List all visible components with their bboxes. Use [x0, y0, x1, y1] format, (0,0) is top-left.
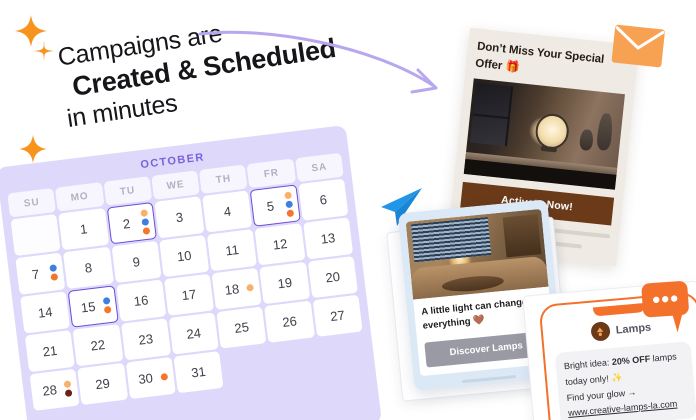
calendar-day-26[interactable]: 26 — [264, 301, 314, 343]
message-offer: 20% OFF — [611, 354, 650, 367]
calendar-day-number: 28 — [42, 382, 58, 399]
calendar-day-6[interactable]: 6 — [298, 179, 348, 221]
calendar-day-number: 3 — [175, 209, 184, 225]
calendar-day-24[interactable]: 24 — [169, 312, 219, 354]
calendar-day-number: 17 — [181, 286, 197, 303]
calendar-event-dots — [247, 283, 255, 291]
calendar-event-dots — [102, 297, 111, 314]
calendar-day-19[interactable]: 19 — [260, 262, 310, 304]
calendar-day-number: 31 — [190, 364, 206, 381]
calendar-event-dot — [140, 209, 148, 217]
calendar-day-number: 11 — [225, 242, 240, 259]
calendar-event-dots — [64, 380, 73, 397]
calendar-day-number: 30 — [138, 370, 154, 387]
calendar-day-number: 5 — [266, 198, 275, 214]
calendar-grid[interactable]: SUMOTUWETHFRSA12345678910111213141516171… — [7, 153, 367, 411]
calendar-empty-cell — [10, 214, 60, 256]
calendar-event-dot — [142, 227, 150, 235]
calendar-day-28[interactable]: 28 — [29, 369, 79, 411]
calendar-day-number: 1 — [79, 221, 88, 237]
calendar-event-dots — [284, 191, 294, 217]
calendar-weekday-tu: TU — [103, 176, 152, 205]
calendar-event-dot — [64, 380, 72, 388]
calendar-event-dot — [65, 389, 73, 397]
calendar-day-4[interactable]: 4 — [202, 190, 252, 232]
calendar-day-12[interactable]: 12 — [255, 223, 305, 265]
calendar-weekday-sa: SA — [295, 153, 344, 182]
illustration-canvas: Campaigns are Created & Scheduled in min… — [0, 0, 696, 420]
email-hero-image — [464, 79, 625, 190]
card-handle-bar — [462, 375, 516, 383]
calendar-day-number: 16 — [133, 292, 149, 309]
calendar-event-dots — [140, 209, 150, 235]
calendar-weekday-mo: MO — [55, 182, 104, 211]
calendar-day-29[interactable]: 29 — [77, 363, 127, 405]
calendar-day-22[interactable]: 22 — [73, 324, 123, 366]
calendar-day-number: 9 — [132, 254, 141, 270]
calendar-day-number: 4 — [223, 204, 232, 220]
calendar-day-number: 19 — [277, 275, 293, 292]
calendar-day-2[interactable]: 2 — [106, 202, 156, 244]
sparkle-icon — [33, 40, 55, 62]
calendar-day-number: 29 — [95, 376, 111, 393]
calendar-day-number: 26 — [281, 313, 297, 330]
calendar-day-number: 2 — [122, 216, 131, 232]
calendar-day-8[interactable]: 8 — [63, 247, 113, 289]
calendar-day-7[interactable]: 7 — [15, 253, 65, 295]
calendar-event-dot — [50, 264, 58, 272]
calendar-event-dot — [247, 283, 255, 291]
calendar-day-13[interactable]: 13 — [303, 217, 353, 259]
calendar-event-dots — [160, 373, 168, 381]
calendar-day-23[interactable]: 23 — [121, 318, 171, 360]
calendar-day-number: 15 — [80, 299, 96, 316]
calendar-day-10[interactable]: 10 — [159, 235, 209, 277]
calendar-day-21[interactable]: 21 — [25, 330, 75, 372]
calendar-day-11[interactable]: 11 — [207, 229, 257, 271]
calendar-day-number: 24 — [186, 325, 202, 342]
calendar-event-dots — [50, 264, 59, 281]
calendar-day-16[interactable]: 16 — [116, 279, 166, 321]
calendar-day-number: 14 — [37, 304, 53, 321]
calendar-day-number: 12 — [272, 236, 288, 253]
calendar-event-dot — [102, 297, 110, 305]
calendar-day-number: 10 — [176, 248, 192, 265]
calendar-day-number: 6 — [319, 192, 328, 208]
chat-bubble-icon — [640, 279, 696, 341]
calendar-weekday-su: SU — [7, 188, 56, 217]
calendar-event-dot — [285, 200, 293, 208]
message-prefix: Bright idea: — [564, 357, 613, 371]
calendar-widget[interactable]: OCTOBER SUMOTUWETHFRSA123456789101112131… — [0, 125, 382, 420]
calendar-day-number: 21 — [42, 343, 58, 360]
calendar-event-dot — [141, 218, 149, 226]
calendar-event-dot — [286, 209, 294, 217]
calendar-day-5[interactable]: 5 — [250, 184, 300, 226]
calendar-event-dot — [284, 191, 292, 199]
calendar-day-number: 22 — [90, 337, 106, 354]
avatar — [590, 321, 611, 342]
calendar-day-18[interactable]: 18 — [212, 268, 262, 310]
calendar-day-number: 7 — [31, 266, 40, 282]
calendar-day-1[interactable]: 1 — [58, 208, 108, 250]
calendar-day-31[interactable]: 31 — [173, 351, 223, 393]
sparkle-icon — [18, 134, 48, 164]
message-link[interactable]: www.creative-lamps-la.com — [568, 399, 678, 419]
calendar-day-number: 23 — [138, 331, 154, 348]
calendar-weekday-we: WE — [151, 170, 200, 199]
calendar-day-25[interactable]: 25 — [216, 306, 266, 348]
calendar-day-30[interactable]: 30 — [125, 357, 175, 399]
envelope-icon — [610, 23, 666, 73]
calendar-day-20[interactable]: 20 — [308, 256, 358, 298]
curved-arrow-icon — [196, 28, 456, 113]
phone-notch — [593, 303, 646, 316]
calendar-day-14[interactable]: 14 — [20, 291, 70, 333]
calendar-day-number: 25 — [234, 319, 250, 336]
calendar-day-9[interactable]: 9 — [111, 241, 161, 283]
calendar-event-dot — [160, 373, 168, 381]
calendar-day-number: 13 — [320, 230, 336, 247]
calendar-day-number: 27 — [329, 307, 345, 324]
calendar-day-number: 8 — [84, 260, 93, 276]
calendar-day-17[interactable]: 17 — [164, 274, 214, 316]
calendar-event-dot — [103, 305, 111, 313]
calendar-event-dot — [51, 273, 59, 281]
calendar-weekday-fr: FR — [247, 159, 296, 188]
message-bubble: Bright idea: 20% OFF lamps today only! ✨… — [555, 341, 696, 420]
calendar-day-number: 18 — [224, 281, 240, 298]
calendar-frame: OCTOBER SUMOTUWETHFRSA123456789101112131… — [0, 125, 382, 420]
calendar-day-27[interactable]: 27 — [312, 295, 362, 337]
calendar-weekday-th: TH — [199, 164, 248, 193]
message-line-2: Find your glow → — [566, 387, 637, 403]
calendar-day-15[interactable]: 15 — [68, 285, 118, 327]
lamps-hero-image — [406, 209, 549, 300]
calendar-day-3[interactable]: 3 — [154, 196, 204, 238]
calendar-day-number: 20 — [325, 269, 341, 286]
